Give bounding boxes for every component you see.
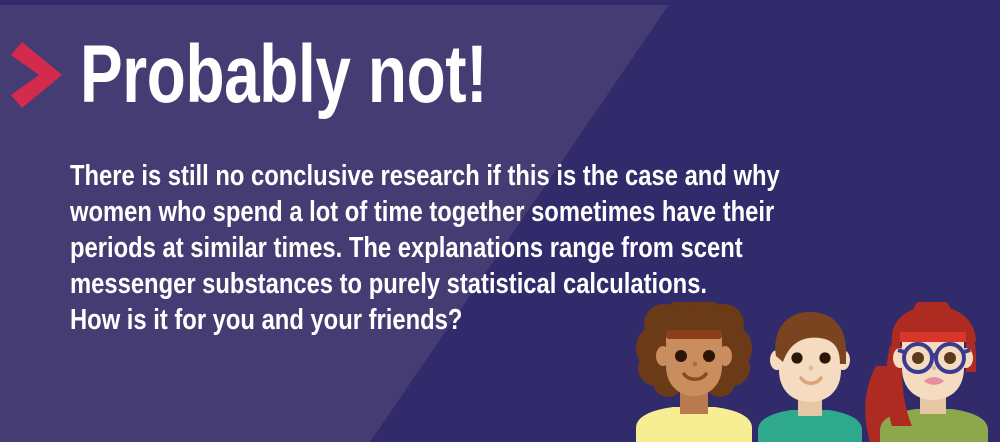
body-line: There is still no conclusive research if… [70, 158, 792, 194]
chevron-right-icon [10, 38, 66, 112]
page-title: Probably not! [80, 36, 487, 113]
headline-row: Probably not! [10, 36, 602, 113]
figures-svg [630, 302, 1000, 442]
figure-woman-red-hair-glasses [865, 302, 988, 442]
body-line: periods at similar times. The explanatio… [70, 230, 792, 266]
infographic-slide: Probably not! There is still no conclusi… [0, 0, 1000, 442]
figures-illustration [630, 302, 1000, 442]
figure-person-short-hair [758, 312, 862, 442]
top-accent-strip [0, 0, 1000, 5]
body-line: messenger substances to purely statistic… [70, 266, 792, 302]
figure-woman-curly-hair [636, 302, 752, 442]
body-line: women who spend a lot of time together s… [70, 194, 792, 230]
